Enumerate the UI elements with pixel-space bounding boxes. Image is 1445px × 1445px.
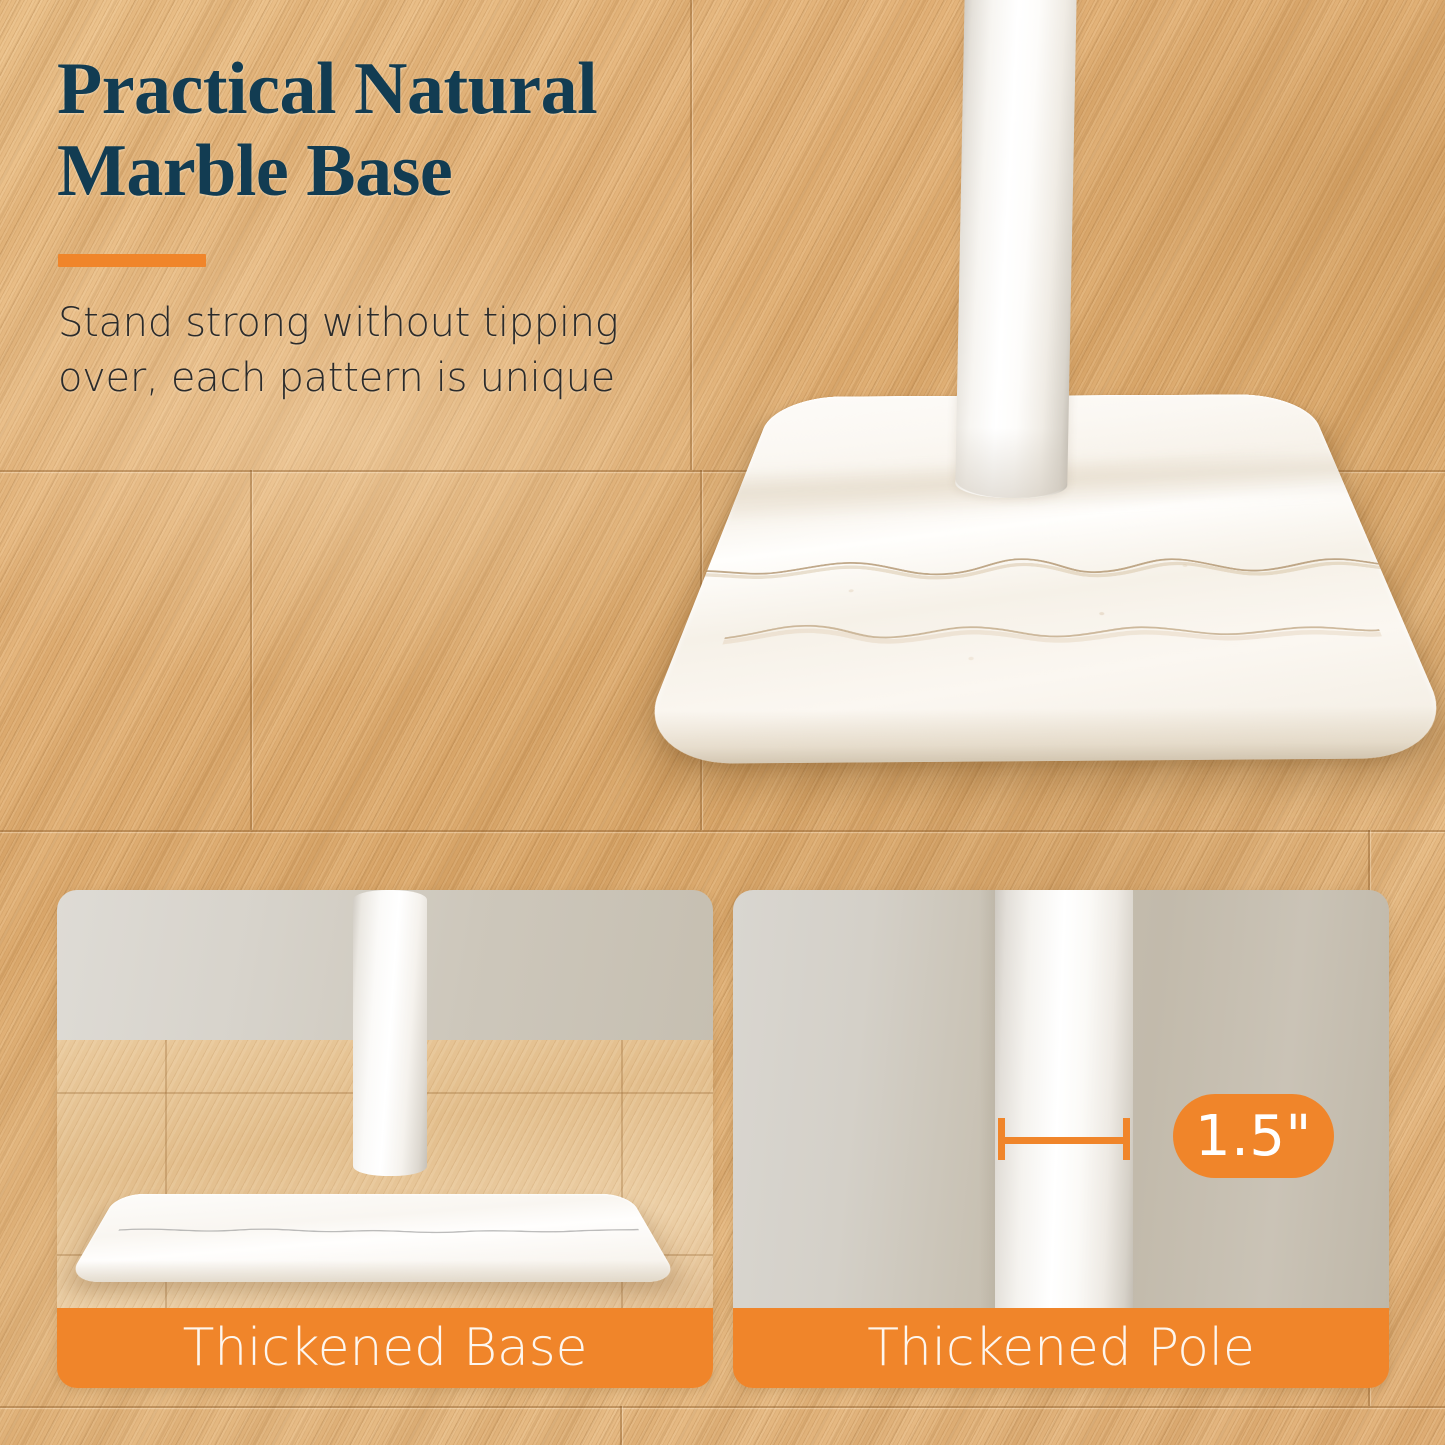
product-pole-closeup (995, 890, 1133, 1308)
accent-underline (58, 254, 206, 267)
dimension-indicator (996, 1118, 1132, 1160)
marble-front-bevel (630, 705, 1445, 764)
panel-caption-thickened-pole: Thickened Pole (733, 1308, 1389, 1388)
marble-bevel (66, 1260, 679, 1282)
thickened-base-photo (57, 890, 713, 1308)
feature-panel-thickened-pole[interactable]: 1.5" Thickened Pole (733, 890, 1389, 1388)
marble-vein (112, 1220, 645, 1241)
page-title: Practical Natural Marble Base (57, 48, 817, 212)
dimension-badge: 1.5" (1173, 1094, 1334, 1178)
floor-plank-seam (620, 1406, 622, 1445)
feature-panel-thickened-base[interactable]: Thickened Base (57, 890, 713, 1388)
subtitle-text: Stand strong without tipping over, each … (58, 296, 678, 406)
floor-plank-seam (250, 470, 252, 830)
thickened-pole-photo: 1.5" (733, 890, 1389, 1308)
marble-base-closeup (66, 1194, 679, 1282)
product-pole (353, 890, 427, 1176)
panel-caption-thickened-base: Thickened Base (57, 1308, 713, 1388)
dimension-rule-line (1002, 1137, 1126, 1144)
floor-plank-seam (0, 1406, 1445, 1408)
dimension-end-cap-right (1123, 1118, 1130, 1160)
headline-line-2: Marble Base (57, 130, 817, 212)
headline-line-1: Practical Natural (57, 48, 817, 130)
product-feature-graphic: Practical Natural Marble Base Stand stro… (0, 0, 1445, 1445)
product-pole (955, 0, 1077, 499)
